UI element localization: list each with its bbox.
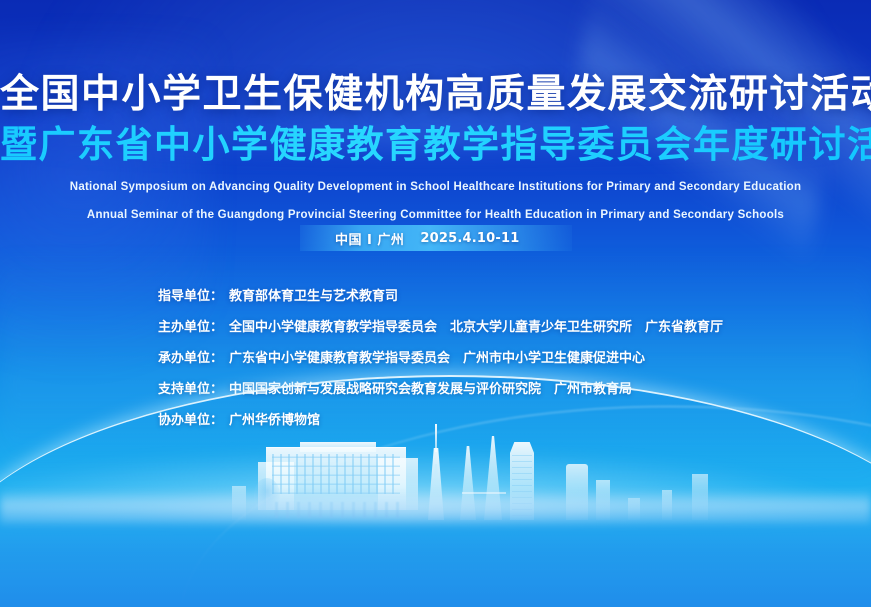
page-title-chinese-line2: 暨广东省中小学健康教育教学指导委员会年度研讨活动 [0, 123, 871, 167]
location-date-badge: 中国 I 广州 2025.4.10-11 [300, 225, 572, 251]
organizer-value: 广州华侨博物馆 [229, 412, 320, 430]
ifc-tower-floor-lines [512, 454, 532, 516]
organizer-value: 全国中小学健康教育教学指导委员会 北京大学儿童青少年卫生研究所 广东省教育厅 [229, 319, 723, 337]
organizer-row: 指导单位： 教育部体育卫生与艺术教育司 [158, 288, 858, 306]
school-wing-left [258, 462, 294, 510]
organizer-value: 广东省中小学健康教育教学指导委员会 广州市中小学卫生健康促进中心 [229, 350, 645, 368]
badge-date: 2025.4.10-11 [420, 231, 519, 246]
organizer-value: 中国国家创新与发展战略研究会教育发展与评价研究院 广州市教育局 [229, 381, 632, 399]
tree-icon [254, 478, 280, 512]
canton-tower-waist [431, 464, 441, 482]
bottom-gradient-fade [0, 487, 871, 607]
organizer-value: 教育部体育卫生与艺术教育司 [229, 288, 398, 306]
badge-row: 中国 I 广州 2025.4.10-11 [0, 225, 871, 251]
building-far-left [232, 486, 246, 520]
school-building [258, 442, 418, 520]
title-block: 全国中小学卫生保健机构高质量发展交流研讨活动 暨广东省中小学健康教育教学指导委员… [0, 72, 871, 223]
organizer-label: 承办单位： [158, 350, 223, 368]
twin-tower-left [460, 446, 476, 520]
ground-mist [0, 490, 871, 524]
building-mid-2 [596, 480, 610, 520]
building-mid-1 [566, 464, 588, 520]
organizer-row: 支持单位： 中国国家创新与发展战略研究会教育发展与评价研究院 广州市教育局 [158, 381, 858, 399]
organizer-list: 指导单位： 教育部体育卫生与艺术教育司 主办单位： 全国中小学健康教育教学指导委… [158, 288, 858, 443]
organizer-row: 主办单位： 全国中小学健康教育教学指导委员会 北京大学儿童青少年卫生研究所 广东… [158, 319, 858, 337]
school-roof [300, 442, 376, 452]
organizer-label: 协办单位： [158, 412, 223, 430]
twin-tower-bridge [462, 492, 506, 494]
building-mid-3 [628, 498, 640, 520]
page-subtitle-english-line1: National Symposium on Advancing Quality … [0, 179, 871, 195]
organizer-label: 支持单位： [158, 381, 223, 399]
building-right-2 [692, 474, 708, 520]
organizer-row: 承办单位： 广东省中小学健康教育教学指导委员会 广州市中小学卫生健康促进中心 [158, 350, 858, 368]
conference-poster: 全国中小学卫生保健机构高质量发展交流研讨活动 暨广东省中小学健康教育教学指导委员… [0, 0, 871, 607]
organizer-label: 主办单位： [158, 319, 223, 337]
school-main-block [266, 447, 406, 510]
horizon-haze [0, 449, 871, 519]
building-right-1 [662, 490, 672, 520]
canton-tower-body [428, 448, 444, 520]
ifc-tower [510, 442, 534, 520]
school-windows [272, 454, 400, 494]
page-title-chinese-line1: 全国中小学卫生保健机构高质量发展交流研讨活动 [0, 72, 871, 118]
school-wing-right [378, 458, 418, 510]
students-figures [272, 502, 404, 518]
organizer-label: 指导单位： [158, 288, 223, 306]
organizer-row: 协办单位： 广州华侨博物馆 [158, 412, 858, 430]
badge-location: 中国 I 广州 [335, 229, 404, 248]
page-subtitle-english-line2: Annual Seminar of the Guangdong Provinci… [0, 207, 871, 223]
twin-tower-right [484, 436, 502, 520]
